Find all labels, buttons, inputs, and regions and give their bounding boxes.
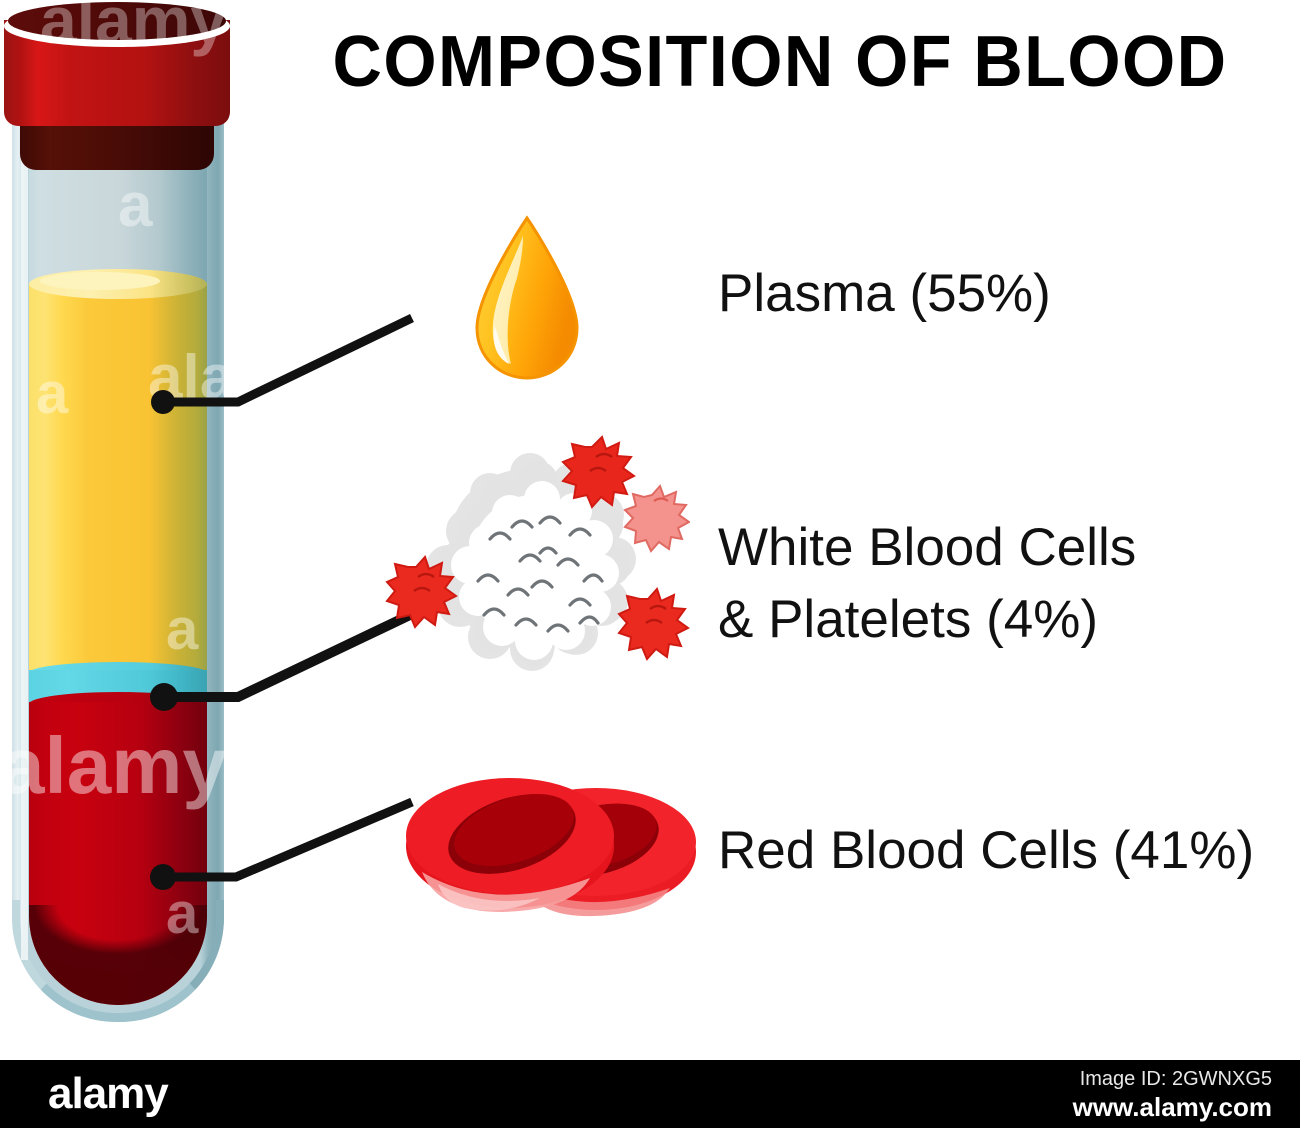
alamy-watermark-bar: alamy Image ID: 2GWNXG5 www.alamy.com [0,1060,1300,1128]
tube-bottom-rim [12,900,224,1022]
image-id-text: Image ID: 2GWNXG5 [972,1066,1272,1092]
alamy-url-text: www.alamy.com [972,1092,1272,1122]
white-blood-cell-icon [380,435,690,685]
red-blood-cells-icon [400,760,700,920]
blood-composition-infographic: COMPOSITION OF BLOOD alamy a a alamy a a… [0,0,1300,1128]
platelet-icon [619,589,688,659]
tube-glass-highlight [21,130,28,960]
callout-label-red-blood-cells: Red Blood Cells (41%) [718,820,1254,882]
leader-line-plasma [140,290,440,420]
alamy-logo: alamy [48,1068,168,1120]
page-title: COMPOSITION OF BLOOD [300,22,1260,102]
platelet-icon [625,486,689,551]
plasma-droplet-icon [455,200,615,390]
platelet-icon [563,437,634,507]
plasma-surface-highlight [40,272,160,290]
callout-label-white-blood-cells: White Blood Cells & Platelets (4%) [718,512,1136,656]
leader-line-red-blood-cells [140,770,440,900]
tube-cap-opening [8,2,226,40]
callout-label-plasma: Plasma (55%) [718,263,1051,325]
